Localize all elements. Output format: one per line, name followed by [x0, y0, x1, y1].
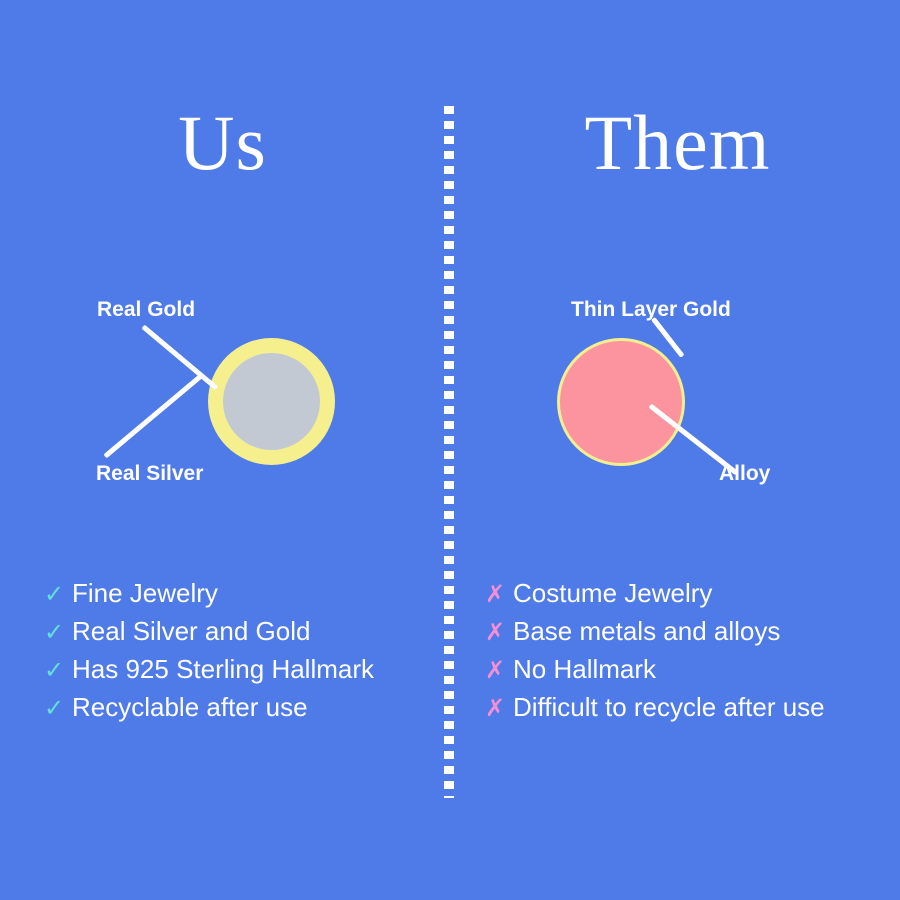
check-icon: ✓	[44, 580, 72, 609]
gold-ring-shape	[208, 338, 335, 465]
cross-icon: ✗	[485, 694, 513, 723]
list-item: ✓ Recyclable after use	[44, 692, 374, 730]
list-item: ✗ Difficult to recycle after use	[485, 692, 825, 730]
diagram-label-alloy: Alloy	[719, 463, 770, 484]
check-icon: ✓	[44, 694, 72, 723]
diagram-us	[0, 270, 445, 510]
list-item: ✗ Base metals and alloys	[485, 616, 825, 654]
silver-core-shape	[223, 353, 320, 450]
comparison-infographic: Us Real Gold Real Silver ✓ Fine Jewelry …	[0, 0, 900, 900]
list-item: ✓ Real Silver and Gold	[44, 616, 374, 654]
list-item: ✗ Costume Jewelry	[485, 578, 825, 616]
diagram-label-real-gold: Real Gold	[97, 299, 195, 320]
feature-text: Costume Jewelry	[513, 578, 712, 609]
cross-icon: ✗	[485, 618, 513, 647]
column-heading-us: Us	[0, 104, 445, 182]
feature-text: Base metals and alloys	[513, 616, 780, 647]
feature-list-us: ✓ Fine Jewelry ✓ Real Silver and Gold ✓ …	[44, 578, 374, 730]
list-item: ✓ Has 925 Sterling Hallmark	[44, 654, 374, 692]
cross-icon: ✗	[485, 656, 513, 685]
column-heading-them: Them	[455, 104, 900, 182]
cross-icon: ✗	[485, 580, 513, 609]
check-icon: ✓	[44, 656, 72, 685]
feature-list-them: ✗ Costume Jewelry ✗ Base metals and allo…	[485, 578, 825, 730]
diagram-label-thin-layer-gold: Thin Layer Gold	[571, 299, 731, 320]
alloy-circle-shape	[557, 338, 685, 466]
feature-text: No Hallmark	[513, 654, 656, 685]
leader-line-real-gold	[141, 325, 218, 391]
feature-text: Real Silver and Gold	[72, 616, 310, 647]
feature-text: Has 925 Sterling Hallmark	[72, 654, 374, 685]
vertical-dotted-divider	[444, 106, 454, 798]
feature-text: Fine Jewelry	[72, 578, 218, 609]
feature-text: Recyclable after use	[72, 692, 308, 723]
list-item: ✓ Fine Jewelry	[44, 578, 374, 616]
feature-text: Difficult to recycle after use	[513, 692, 825, 723]
check-icon: ✓	[44, 618, 72, 647]
diagram-label-real-silver: Real Silver	[96, 463, 203, 484]
list-item: ✗ No Hallmark	[485, 654, 825, 692]
leader-line-real-silver	[103, 372, 204, 458]
